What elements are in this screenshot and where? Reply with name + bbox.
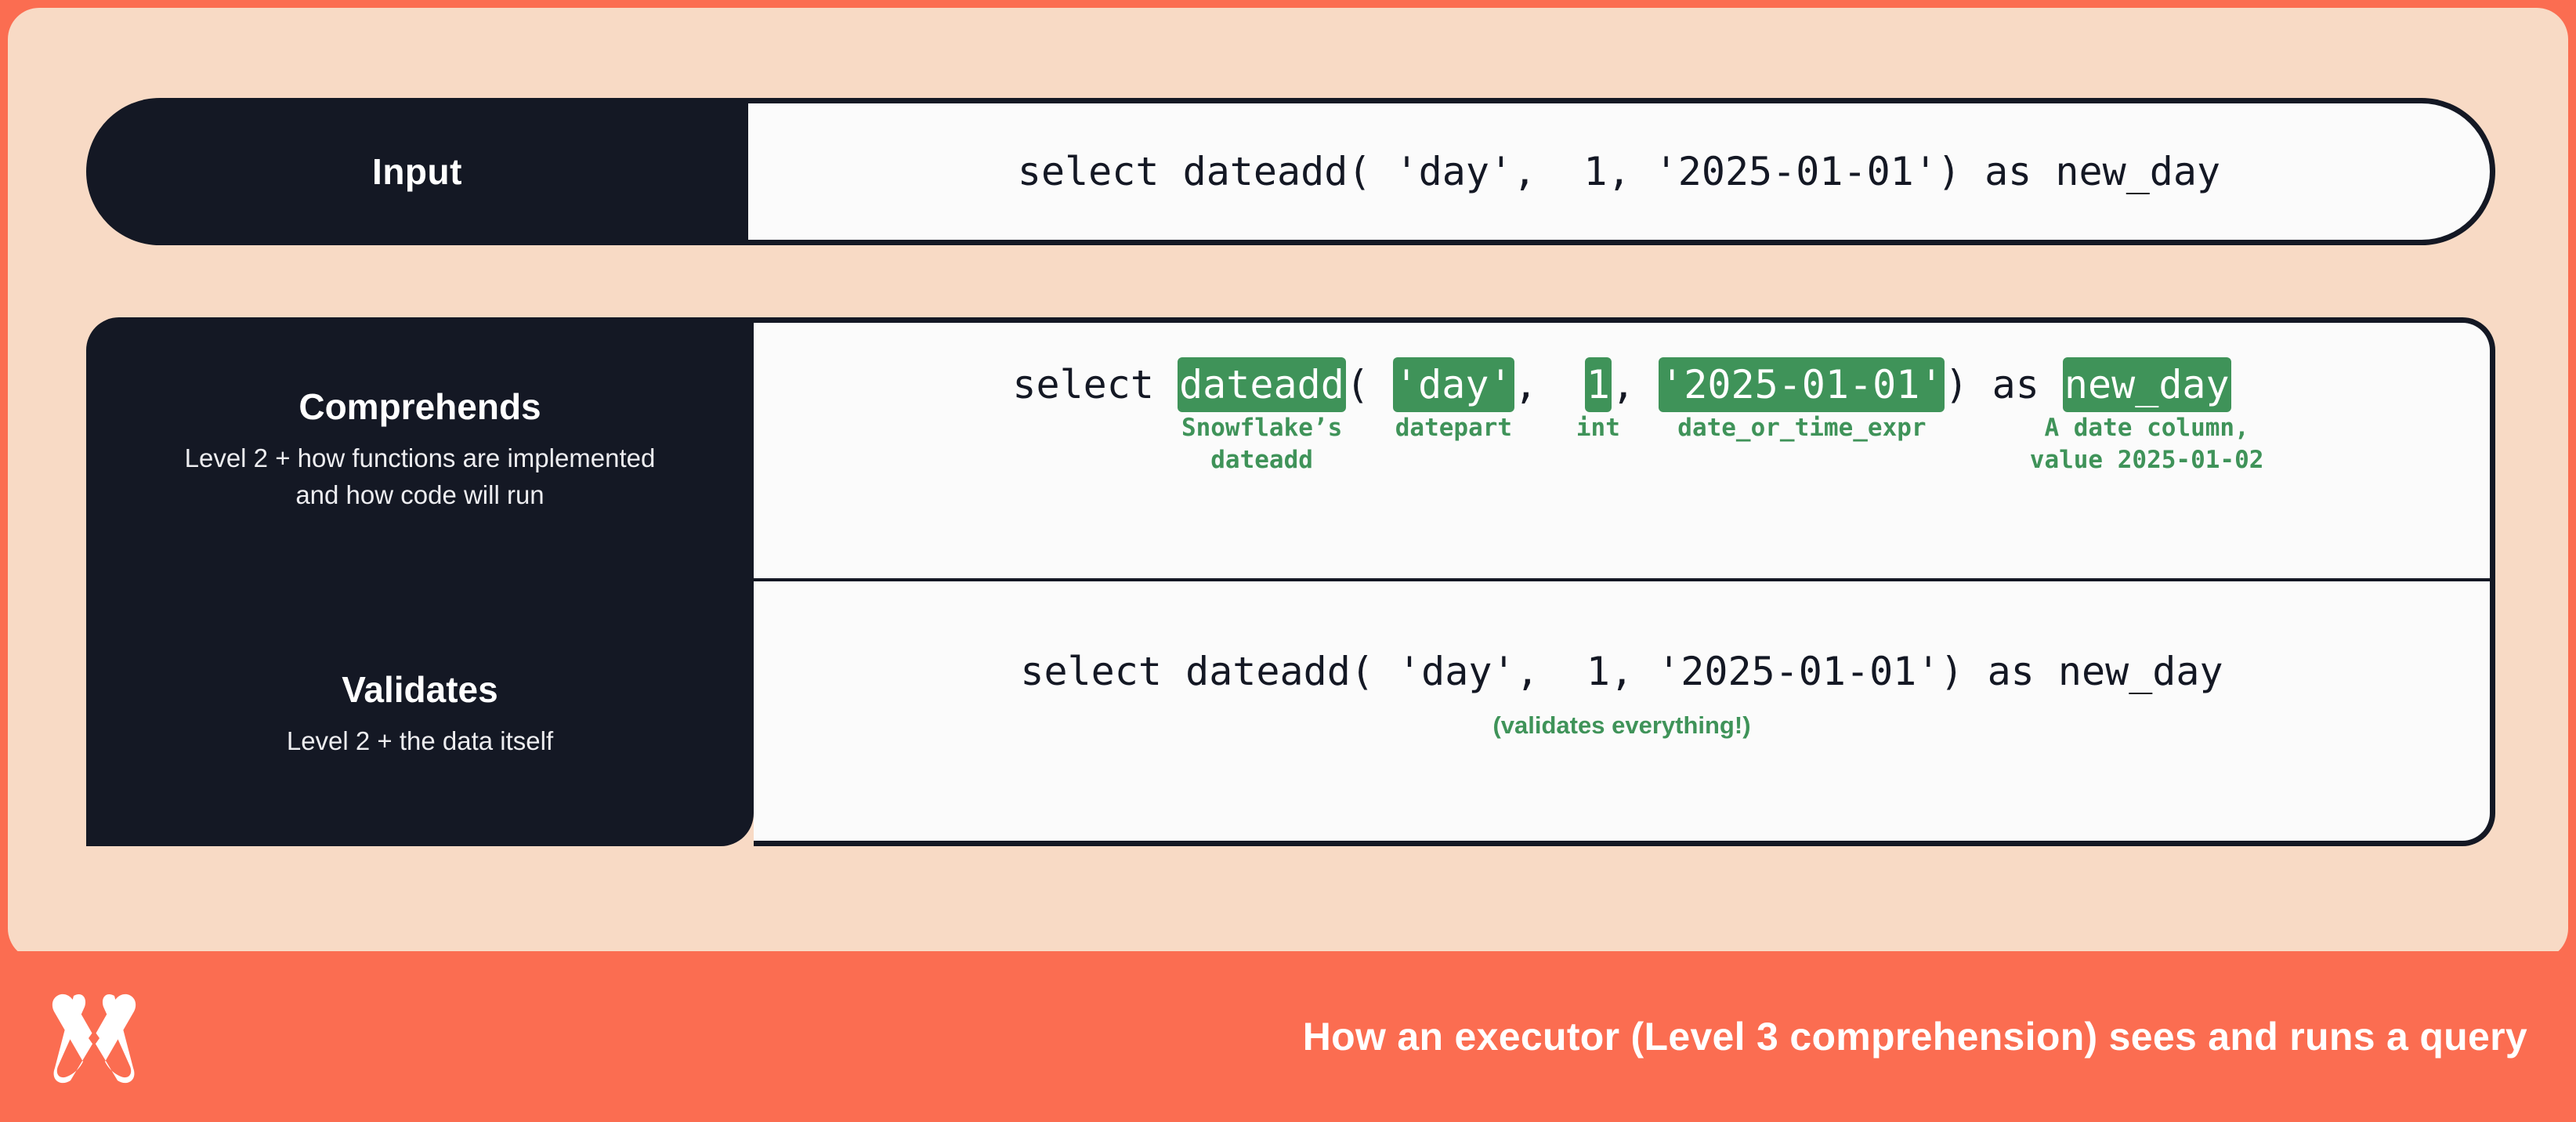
code-token: ) as	[1945, 362, 2063, 407]
comprehends-code-text: select dateadd( 'day', 1, '2025-01-01') …	[1012, 357, 2230, 412]
code-token: ,	[1612, 362, 1659, 407]
table-row-validates: Validates Level 2 + the data itself sele…	[86, 581, 2495, 846]
validates-sublabel: Level 2 + the data itself	[287, 723, 553, 760]
comprehends-sublabel: Level 2 + how functions are implemented …	[185, 440, 656, 514]
comprehends-content-cell: select dateadd( 'day', 1, '2025-01-01') …	[754, 317, 2495, 581]
validates-content-cell: select dateadd( 'day', 1, '2025-01-01') …	[754, 581, 2495, 846]
annotation-4: date_or_time_expr	[1677, 412, 1926, 444]
validates-label: Validates	[342, 668, 497, 711]
annotation-line1: int	[1576, 412, 1620, 444]
annotation-2: datepart	[1395, 412, 1512, 444]
annotation-line1: A date column,	[2030, 412, 2264, 444]
footer-caption: How an executor (Level 3 comprehension) …	[1303, 1014, 2527, 1059]
validates-label-cell: Validates Level 2 + the data itself	[86, 581, 754, 846]
input-row: Input select dateadd( 'day', 1, '2025-01…	[86, 98, 2495, 245]
footer-bar: How an executor (Level 3 comprehension) …	[0, 951, 2576, 1122]
comprehends-sublabel-line1: Level 2 + how functions are implemented	[185, 443, 656, 472]
code-highlight-20250101: '2025-01-01'	[1659, 357, 1945, 412]
code-token: (	[1346, 362, 1393, 407]
annotation-line1: datepart	[1395, 412, 1512, 444]
validates-note: (validates everything!)	[1492, 711, 1750, 740]
input-label-cell: Input	[86, 98, 748, 245]
table-row-comprehends: Comprehends Level 2 + how functions are …	[86, 317, 2495, 581]
input-code-text: select dateadd( 'day', 1, '2025-01-01') …	[1018, 149, 2220, 194]
comprehends-label-cell: Comprehends Level 2 + how functions are …	[86, 317, 754, 581]
levels-table: Comprehends Level 2 + how functions are …	[86, 317, 2495, 846]
input-code-cell: select dateadd( 'day', 1, '2025-01-01') …	[748, 98, 2495, 245]
code-token: ,	[1514, 362, 1585, 407]
annotation-5: A date column,value 2025-01-02	[2030, 412, 2264, 476]
annotation-line2: value 2025-01-02	[2030, 444, 2264, 476]
code-token: select	[1012, 362, 1178, 407]
comprehends-label: Comprehends	[298, 385, 541, 428]
content-panel: Input select dateadd( 'day', 1, '2025-01…	[8, 8, 2568, 960]
code-highlight-1: 1	[1585, 357, 1612, 412]
annotation-3: int	[1576, 412, 1620, 444]
annotation-line1: date_or_time_expr	[1677, 412, 1926, 444]
validates-code-text: select dateadd( 'day', 1, '2025-01-01') …	[1020, 649, 2223, 694]
annotation-line1: Snowflake’s	[1181, 412, 1342, 444]
annotation-line2: dateadd	[1181, 444, 1342, 476]
comprehends-sublabel-line2: and how code will run	[295, 480, 544, 509]
annotation-1: Snowflake’sdateadd	[1181, 412, 1342, 476]
input-label: Input	[372, 150, 462, 193]
comprehends-annotation-row: Snowflake’sdateadddatepartintdate_or_tim…	[754, 412, 2490, 498]
code-highlight-dateadd: dateadd	[1178, 357, 1346, 412]
infographic-frame: Input select dateadd( 'day', 1, '2025-01…	[0, 0, 2576, 1122]
code-highlight-newday: new_day	[2063, 357, 2231, 412]
butterfly-x-logo-icon	[44, 986, 144, 1087]
code-highlight-day: 'day'	[1393, 357, 1514, 412]
